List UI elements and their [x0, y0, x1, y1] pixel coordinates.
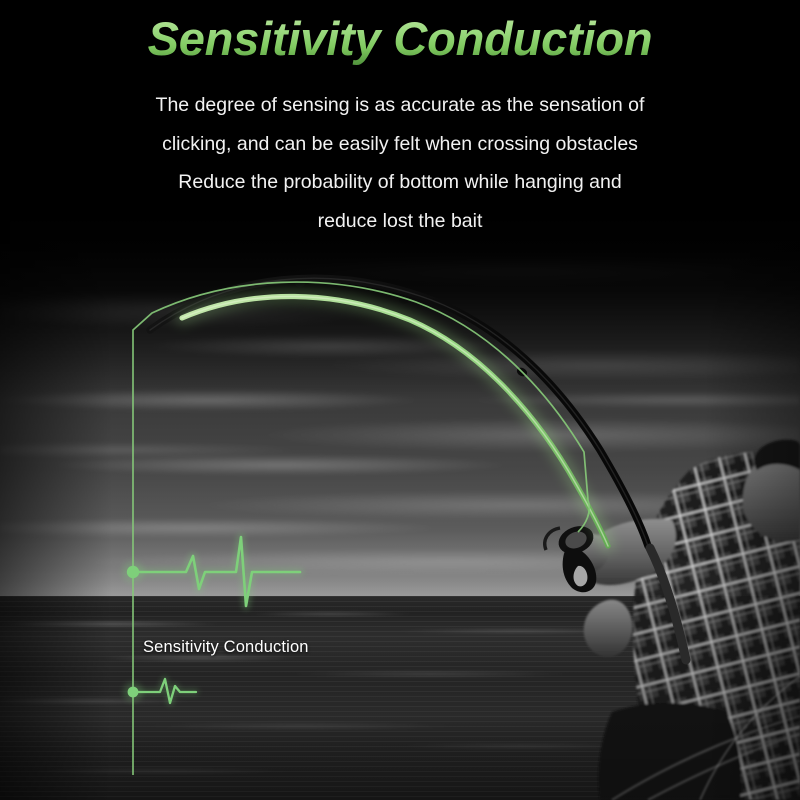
- subtitle-line-4: reduce lost the bait: [0, 202, 800, 241]
- sensitivity-conduction-label: Sensitivity Conduction: [143, 638, 309, 657]
- page-title: Sensitivity Conduction: [0, 11, 800, 66]
- rod-sensitivity-glow: [182, 296, 608, 546]
- subtitle-line-2: clicking, and can be easily felt when cr…: [0, 125, 800, 164]
- fishing-rod: [150, 278, 686, 660]
- sensitivity-pulse-secondary: [123, 679, 196, 703]
- sensitivity-pulse-primary: [122, 537, 300, 606]
- subtitle-line-1: The degree of sensing is as accurate as …: [0, 86, 800, 125]
- spinning-reel: [545, 521, 598, 592]
- promo-banner: Sensitivity Conduction The degree of sen…: [0, 0, 800, 800]
- subtitle-line-3: Reduce the probability of bottom while h…: [0, 163, 800, 202]
- subtitle-block: The degree of sensing is as accurate as …: [0, 86, 800, 240]
